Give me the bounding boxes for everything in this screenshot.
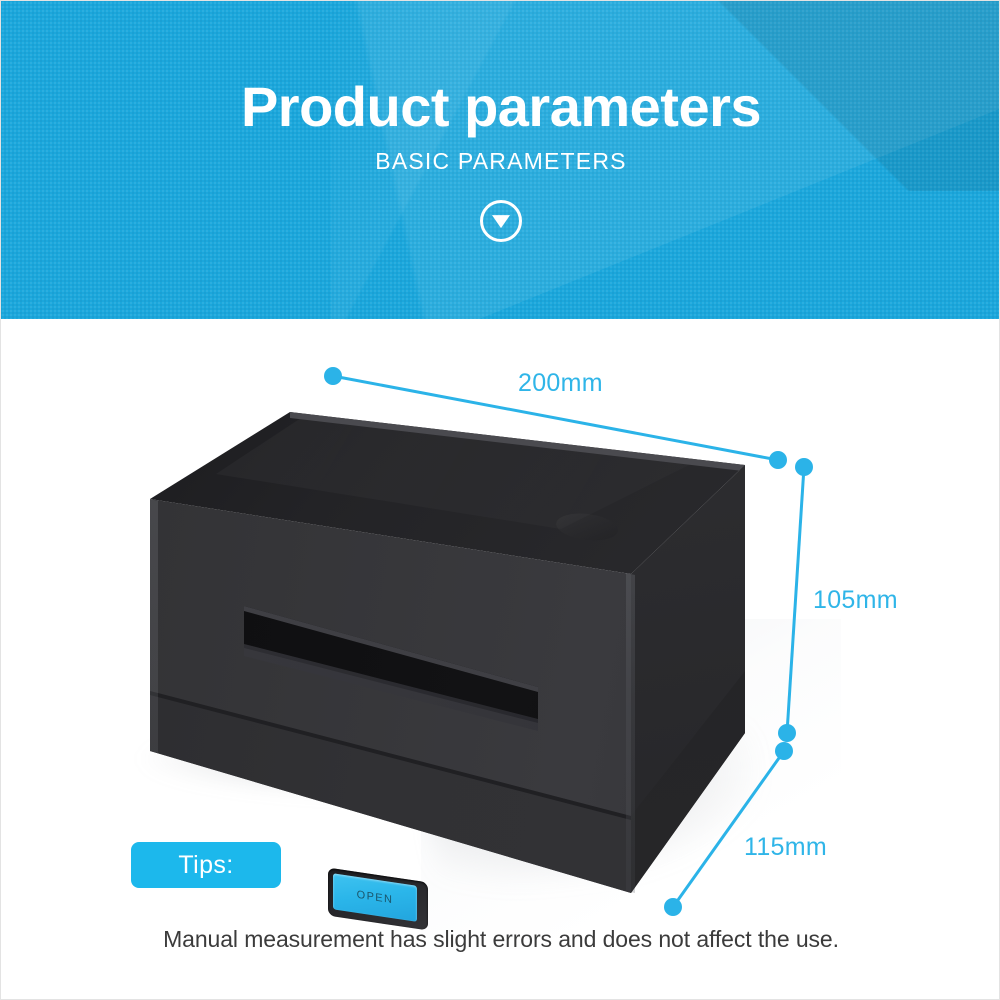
dimension-label-depth: 115mm [744,833,827,862]
page-title: Product parameters [1,79,1000,135]
tips-note-text: Manual measurement has slight errors and… [1,926,1000,953]
circle-chevron-down-icon [480,200,522,242]
triangle-down-glyph [492,215,510,228]
page-banner: Product parameters BASIC PARAMETERS [1,1,1000,319]
open-button-label: OPEN [357,889,394,906]
dimension-label-height: 105mm [813,586,898,615]
tips-badge: Tips: [131,842,281,888]
open-button-bezel: OPEN [328,868,428,931]
printer-product-image: OPEN [1,319,1000,1000]
product-stage: OPEN [1,319,1000,1000]
product-parameters-infographic: Product parameters BASIC PARAMETERS [0,0,1000,1000]
tips-badge-label: Tips: [178,851,233,880]
open-button[interactable]: OPEN [333,873,417,922]
page-subtitle: BASIC PARAMETERS [1,148,1000,175]
dimension-label-width: 200mm [518,369,603,398]
